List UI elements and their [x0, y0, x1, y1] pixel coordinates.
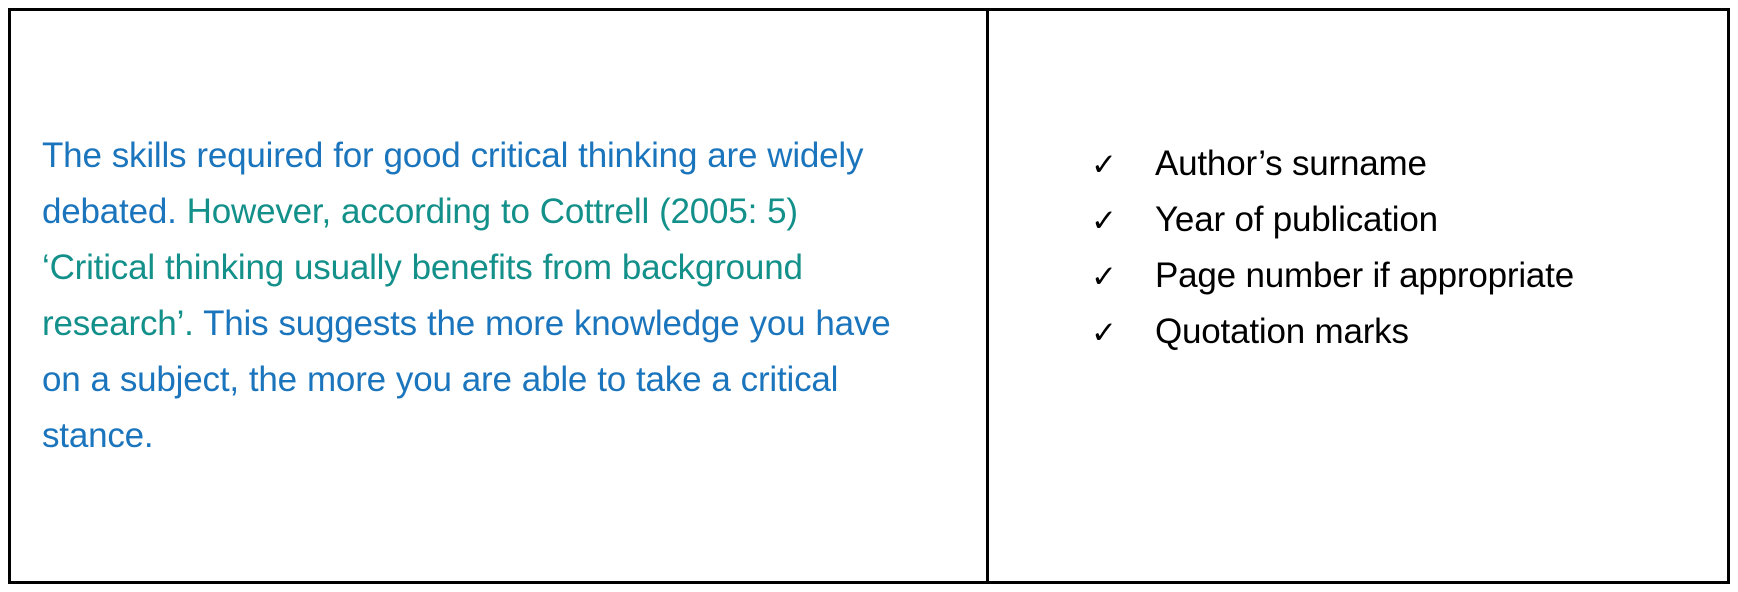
list-item: ✓ Quotation marks: [1091, 304, 1574, 360]
right-cell-checklist: ✓ Author’s surname ✓ Year of publication…: [989, 11, 1727, 581]
checkmark-icon: ✓: [1091, 193, 1155, 249]
checklist-item-label: Quotation marks: [1155, 304, 1409, 360]
checkmark-icon: ✓: [1091, 249, 1155, 305]
screenshot-root: The skills required for good critical th…: [0, 0, 1738, 592]
example-paragraph: The skills required for good critical th…: [42, 128, 912, 464]
list-item: ✓ Year of publication: [1091, 192, 1574, 248]
checklist-item-label: Author’s surname: [1155, 136, 1427, 192]
checklist-item-label: Page number if appropriate: [1155, 248, 1574, 304]
paragraph-gap-1: [177, 192, 187, 231]
list-item: ✓ Author’s surname: [1091, 136, 1574, 192]
list-item: ✓ Page number if appropriate: [1091, 248, 1574, 304]
paragraph-gap-2: [194, 304, 203, 343]
left-cell-example-paragraph: The skills required for good critical th…: [11, 11, 989, 581]
checklist-item-label: Year of publication: [1155, 192, 1438, 248]
citation-checklist: ✓ Author’s surname ✓ Year of publication…: [1091, 136, 1574, 360]
checkmark-icon: ✓: [1091, 137, 1155, 193]
two-column-table: The skills required for good critical th…: [8, 8, 1730, 584]
checkmark-icon: ✓: [1091, 305, 1155, 361]
